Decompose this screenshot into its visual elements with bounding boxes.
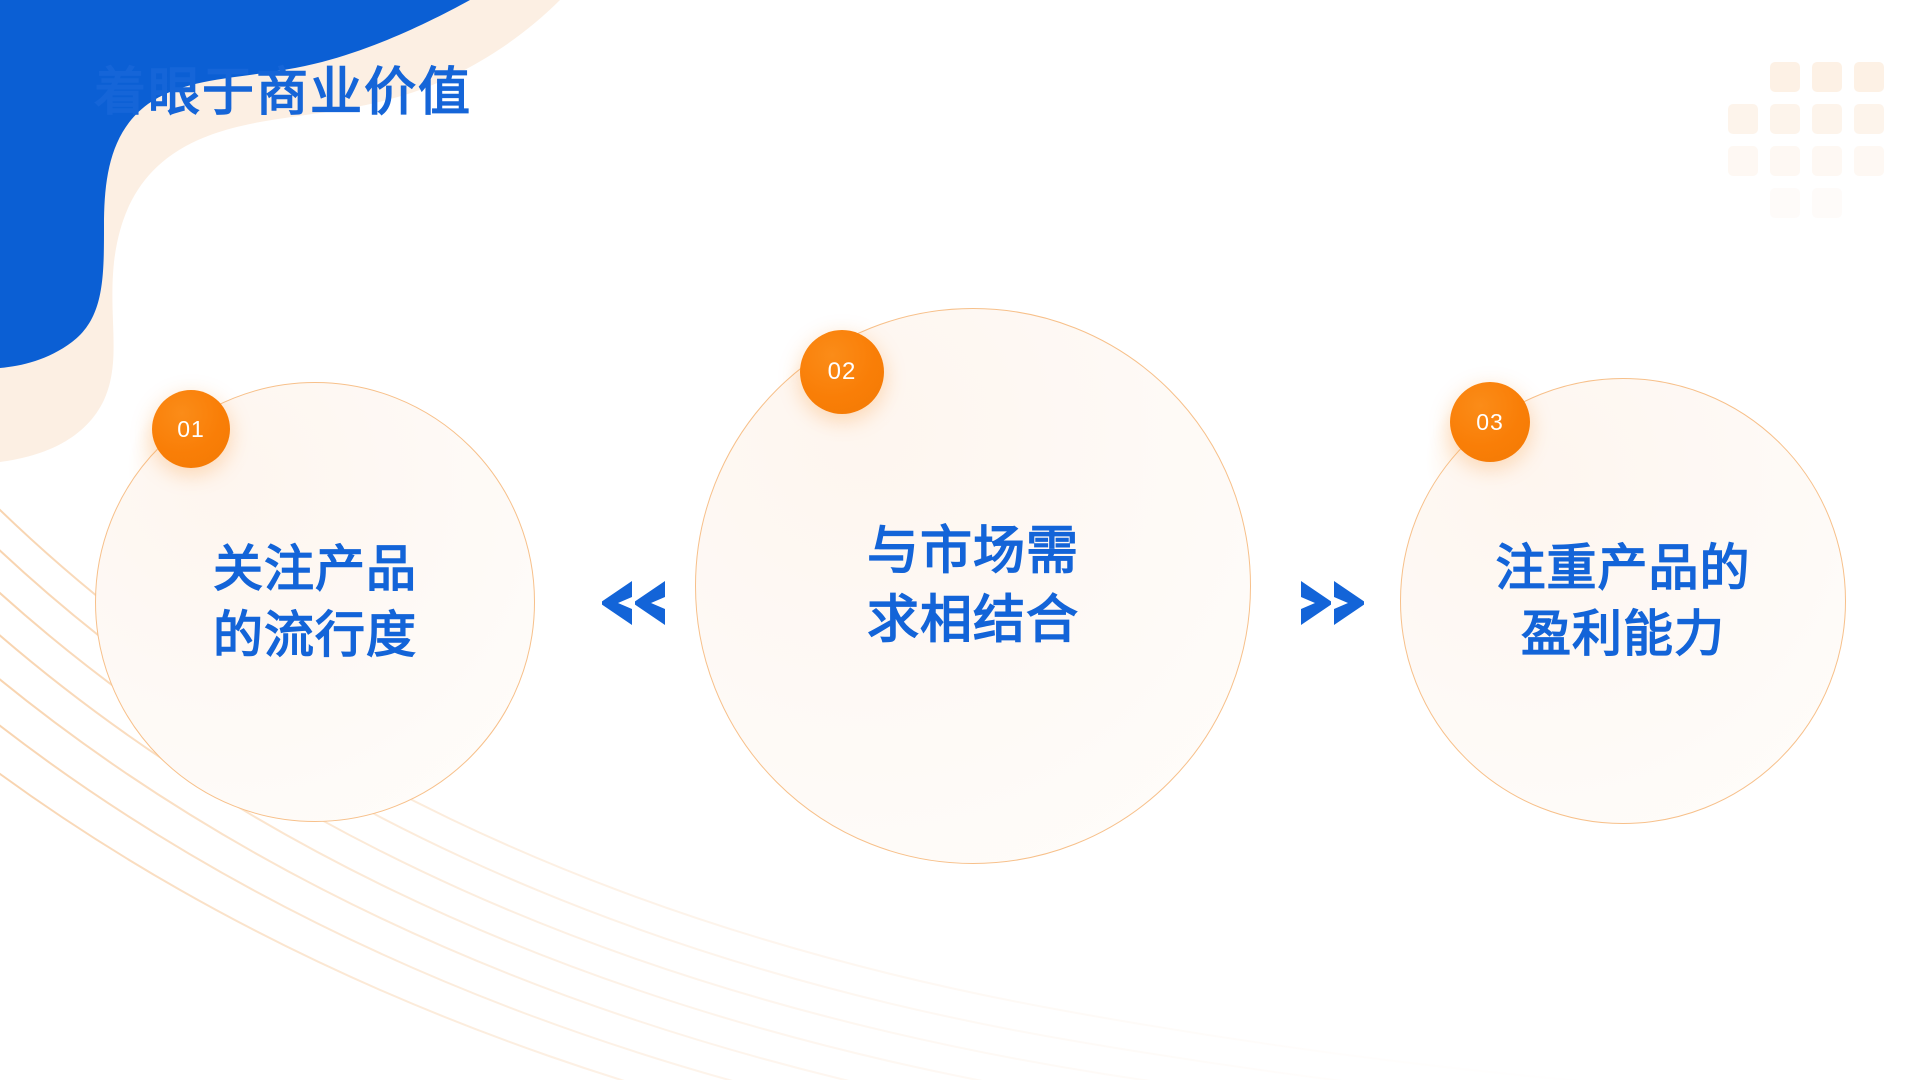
node-badge-2[interactable]: 02 bbox=[800, 330, 884, 414]
double-chevron-right-icon bbox=[1290, 570, 1374, 636]
double-chevron-left-icon bbox=[592, 570, 676, 636]
node-circle-2[interactable]: 与市场需求相结合 bbox=[695, 308, 1251, 864]
dot-grid-decoration bbox=[1728, 62, 1920, 222]
node-badge-1[interactable]: 01 bbox=[152, 390, 230, 468]
slide-canvas: 着眼于商业价值 关注产品的流行度 01 与市场需求相结合 02 注重产品的盈利能… bbox=[0, 0, 1920, 1080]
node-label-3: 注重产品的盈利能力 bbox=[1401, 535, 1845, 667]
node-label-1: 关注产品的流行度 bbox=[96, 536, 534, 668]
page-title: 着眼于商业价值 bbox=[94, 62, 472, 125]
node-label-2: 与市场需求相结合 bbox=[696, 517, 1250, 654]
node-badge-3[interactable]: 03 bbox=[1450, 382, 1530, 462]
